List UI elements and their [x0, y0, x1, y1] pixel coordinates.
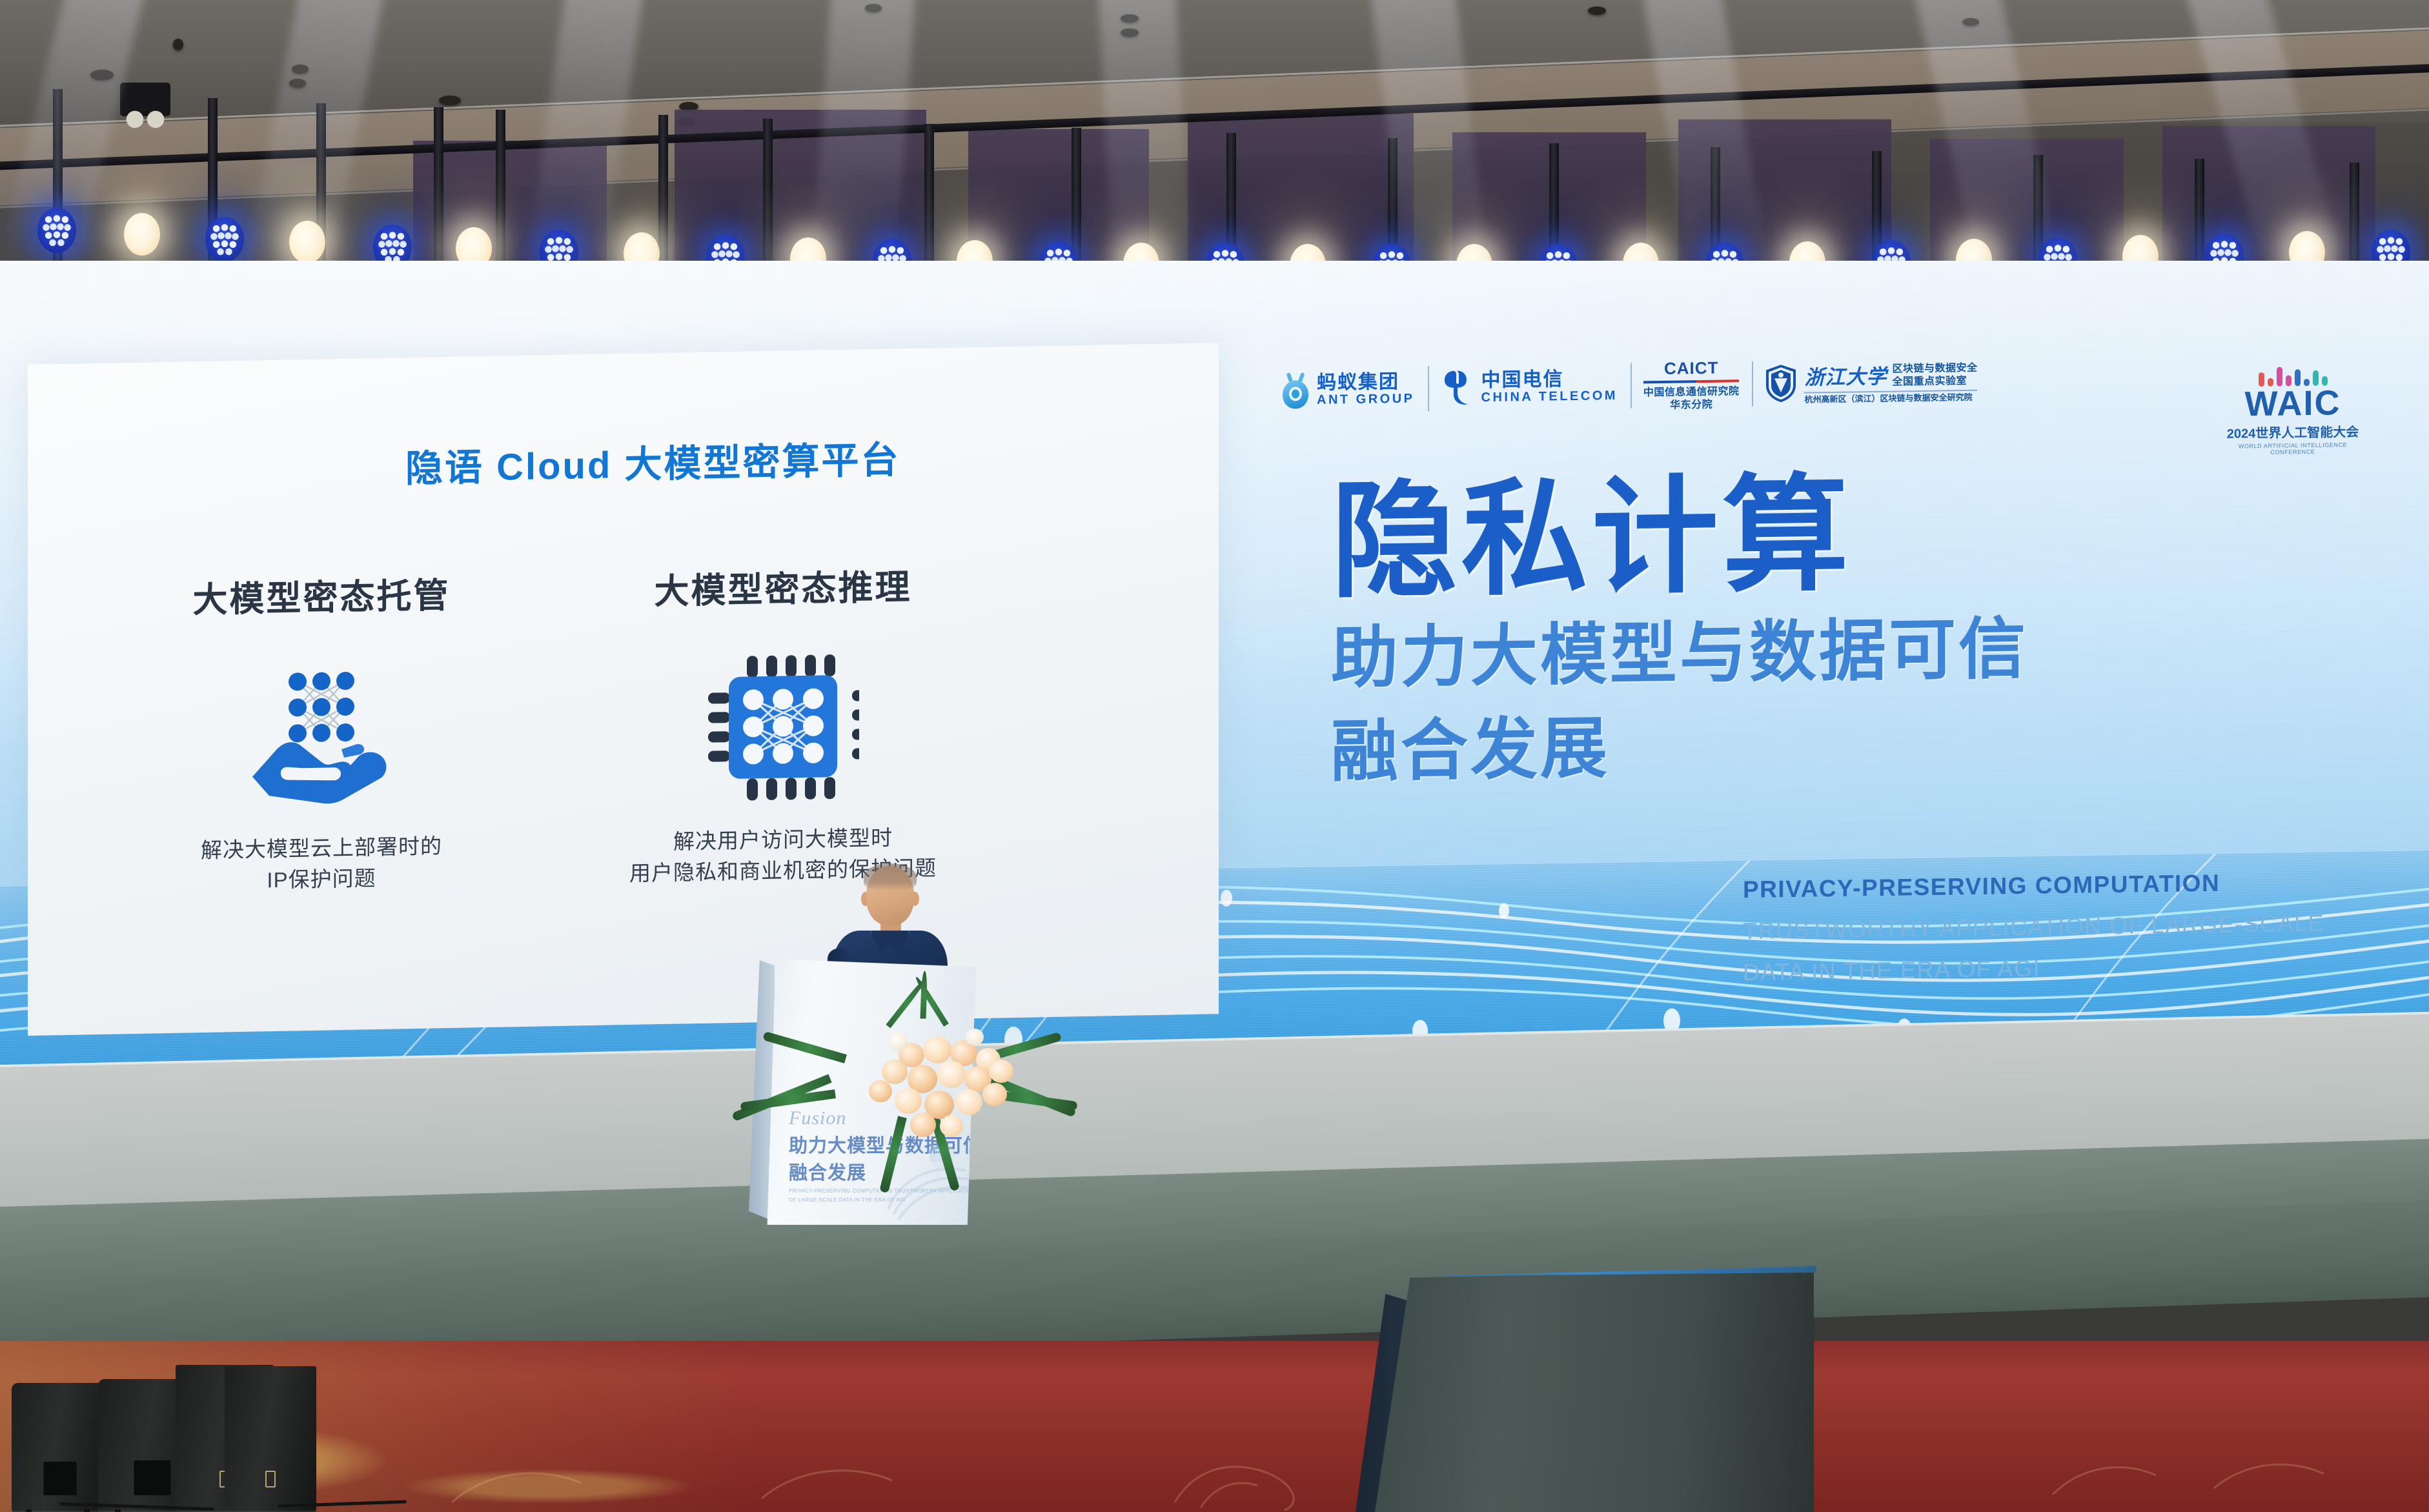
ceiling-fixture	[1121, 14, 1139, 23]
backdrop-english-subtitle: PRIVACY-PRESERVING COMPUTATION TRUSTWORT…	[1743, 868, 2324, 986]
waic-en: WORLD ARTIFICIAL INTELLIGENCE CONFERENCE	[2219, 441, 2367, 456]
ceiling-fixture	[292, 65, 309, 74]
slide-title: 隐语 Cloud 大模型密算平台	[405, 429, 900, 492]
slide-column-hosting: 大模型密态托管 解决大	[76, 565, 567, 900]
hall-ceiling	[0, 0, 2429, 271]
china-telecom-logo: 中国电信 CHINA TELECOM	[1428, 356, 1631, 419]
waic-wordmark: WAIC	[2219, 387, 2367, 422]
english-line-2: TRUSTWORTHY APPLICATION OF LARGE-SCALE	[1743, 909, 2324, 945]
china-telecom-cn: 中国电信	[1481, 368, 1618, 391]
ant-group-en: ANT GROUP	[1317, 392, 1415, 408]
china-telecom-mark-icon	[1441, 369, 1474, 407]
waic-logo: WAIC 2024世界人工智能大会 WORLD ARTIFICIAL INTEL…	[2219, 363, 2367, 457]
truss-vertical	[924, 124, 934, 271]
slide-column-inference: 大模型密态推理	[538, 556, 1028, 891]
ceiling-fixture	[90, 70, 114, 80]
ant-group-mark-icon	[1281, 372, 1310, 409]
stage-light-white	[289, 221, 325, 263]
sponsor-logo-bar: 蚂蚁集团 ANT GROUP 中国电信 CHINA TELECOM CAICT …	[1268, 345, 2043, 426]
stage-monitor-speaker	[12, 1383, 108, 1512]
speaker-hair	[864, 863, 917, 891]
presentation-slide: 隐语 Cloud 大模型密算平台 大模型密态托管	[28, 343, 1219, 1036]
column-heading: 大模型密态推理	[538, 556, 1028, 616]
par-can-fixture-icon	[120, 83, 170, 116]
stage-light-white	[124, 213, 160, 256]
flower-arrangement	[826, 993, 1039, 1141]
headline-sub-line2: 融合发展	[1331, 698, 2299, 794]
stage-light-blue	[205, 217, 244, 262]
ceiling-fixture	[289, 79, 306, 88]
pa-loudspeaker	[225, 1366, 316, 1512]
zju-lab-line2: 全国重点实验室	[1892, 374, 1977, 388]
stage-light-blue	[37, 208, 76, 253]
confidence-monitor-board	[1375, 1268, 1814, 1512]
zju-institute: 杭州高新区（滨江）区块链与数据安全研究院	[1804, 392, 1977, 405]
backdrop-headline: 隐私计算 助力大模型与数据可信 融合发展	[1331, 464, 2299, 794]
zju-name-cn: 浙江大学	[1804, 359, 1887, 390]
neural-network-chip-icon	[538, 627, 1028, 829]
ant-group-cn: 蚂蚁集团	[1317, 371, 1415, 393]
truss-vertical	[763, 119, 773, 271]
headline-main: 隐私计算	[1331, 464, 2299, 607]
caict-logo: CAICT 中国信息通信研究院 华东分院	[1631, 354, 1753, 416]
column-heading: 大模型密态托管	[76, 565, 567, 625]
zhejiang-university-logo: 浙江大学 区块链与数据安全 全国重点实验室 杭州高新区（滨江）区块链与数据安全研…	[1752, 350, 1990, 413]
truss-vertical	[658, 115, 668, 271]
truss-vertical	[496, 110, 505, 271]
ceiling-fixture	[1962, 18, 1979, 26]
china-telecom-en: CHINA TELECOM	[1481, 388, 1618, 405]
truss-vertical	[2195, 159, 2204, 271]
zju-lab-line1: 区块链与数据安全	[1892, 361, 1977, 376]
waic-cn: 2024世界人工智能大会	[2219, 421, 2367, 442]
truss-vertical	[2350, 163, 2359, 271]
column-caption: 解决大模型云上部署时的 IP保护问题	[76, 829, 567, 900]
ceiling-fixture	[1121, 28, 1139, 37]
caict-rule	[1643, 379, 1740, 383]
truss-vertical	[434, 107, 443, 271]
podium-area: Fusion 助力大模型与数据可信 融合发展 PRIVACY-PRESERVIN…	[749, 863, 1020, 1225]
ceiling-fixture	[1588, 6, 1606, 15]
ceiling-fixture	[173, 39, 183, 50]
caict-cn-line1: 中国信息通信研究院	[1643, 385, 1740, 399]
caict-wordmark-icon: CAICT	[1643, 358, 1740, 379]
venue-carpet	[0, 1341, 2429, 1512]
zju-shield-icon	[1765, 364, 1797, 403]
hand-holding-neural-network-icon	[76, 635, 567, 838]
ceiling-fixture	[439, 96, 461, 105]
caict-cn-line2: 华东分院	[1643, 398, 1740, 412]
headline-sub-line1: 助力大模型与数据可信	[1331, 605, 2299, 700]
ant-group-logo: 蚂蚁集团 ANT GROUP	[1268, 359, 1428, 421]
ceiling-fixture	[865, 4, 882, 12]
